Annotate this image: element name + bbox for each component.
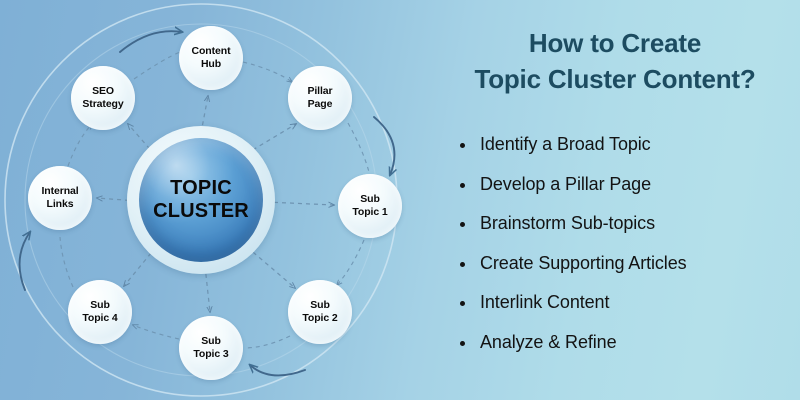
- bullet-icon: [460, 301, 465, 306]
- node-sub-topic-4-line2: Topic 4: [82, 312, 117, 324]
- bullet-icon: [460, 341, 465, 346]
- bullet-icon: [460, 262, 465, 267]
- flow-arrow-left: [20, 232, 30, 290]
- rim-link-pillar-to-sub1: [348, 123, 369, 172]
- node-content-hub-line1: Content: [192, 45, 231, 57]
- step-text: Interlink Content: [480, 292, 609, 312]
- node-sub-topic-4-line1: Sub: [90, 299, 110, 311]
- node-sub-topic-4[interactable]: Sub Topic 4: [68, 280, 132, 344]
- node-internal-links-line1: Internal: [41, 185, 78, 197]
- list-item: Create Supporting Articles: [458, 253, 800, 274]
- page-title-line1: How to Create: [529, 28, 701, 58]
- node-content-hub-label: Content Hub: [192, 45, 231, 71]
- content-panel: How to Create Topic Cluster Content? Ide…: [430, 0, 800, 400]
- node-seo-strategy-line2: Strategy: [82, 98, 123, 110]
- node-sub-topic-3[interactable]: Sub Topic 3: [179, 316, 243, 380]
- node-internal-links-label: Internal Links: [41, 185, 78, 211]
- rim-link-sub2-to-sub3: [244, 336, 290, 348]
- node-sub-topic-2[interactable]: Sub Topic 2: [288, 280, 352, 344]
- bullet-icon: [460, 143, 465, 148]
- node-sub-topic-1-line1: Sub: [360, 193, 380, 205]
- node-pillar-page[interactable]: Pillar Page: [288, 66, 352, 130]
- node-internal-links[interactable]: Internal Links: [28, 166, 92, 230]
- node-seo-strategy-line1: SEO: [92, 85, 114, 97]
- list-item: Analyze & Refine: [458, 332, 800, 353]
- node-pillar-page-line2: Page: [308, 98, 333, 110]
- node-internal-links-line2: Links: [47, 198, 74, 210]
- node-sub-topic-1-label: Sub Topic 1: [352, 193, 387, 219]
- node-sub-topic-1-line2: Topic 1: [352, 206, 387, 218]
- page-title: How to Create Topic Cluster Content?: [430, 26, 800, 98]
- node-sub-topic-2-line1: Sub: [310, 299, 330, 311]
- list-item: Identify a Broad Topic: [458, 134, 800, 155]
- step-text: Analyze & Refine: [480, 332, 616, 352]
- node-sub-topic-3-label: Sub Topic 3: [193, 335, 228, 361]
- list-item: Develop a Pillar Page: [458, 174, 800, 195]
- core-label-line2: CLUSTER: [153, 200, 249, 222]
- step-text: Develop a Pillar Page: [480, 174, 651, 194]
- rim-link-sub1-to-sub2: [337, 240, 364, 285]
- spoke-sub-topic-1: [266, 202, 334, 205]
- node-sub-topic-3-line2: Topic 3: [193, 348, 228, 360]
- topic-cluster-core[interactable]: TOPIC CLUSTER: [139, 138, 263, 262]
- node-pillar-page-line1: Pillar: [307, 85, 332, 97]
- node-content-hub-line2: Hub: [201, 58, 221, 70]
- node-sub-topic-2-label: Sub Topic 2: [302, 299, 337, 325]
- bullet-icon: [460, 183, 465, 188]
- rim-link-sub3-to-sub4: [133, 325, 179, 339]
- list-item: Brainstorm Sub-topics: [458, 213, 800, 234]
- rim-link-seo-to-hub: [134, 52, 180, 79]
- bullet-icon: [460, 222, 465, 227]
- rim-link-hub-to-pillar: [243, 62, 292, 82]
- steps-list: Identify a Broad Topic Develop a Pillar …: [458, 134, 800, 371]
- node-sub-topic-3-line1: Sub: [201, 335, 221, 347]
- flow-arrow-right: [374, 117, 394, 175]
- rim-link-sub4-to-links: [60, 237, 73, 287]
- list-item: Interlink Content: [458, 292, 800, 313]
- topic-cluster-diagram: TOPIC CLUSTER Content Hub Pillar Page Su…: [0, 0, 430, 400]
- node-sub-topic-4-label: Sub Topic 4: [82, 299, 117, 325]
- node-sub-topic-1[interactable]: Sub Topic 1: [338, 174, 402, 238]
- page-title-line2: Topic Cluster Content?: [474, 64, 755, 94]
- spoke-sub-topic-2: [247, 247, 295, 288]
- node-sub-topic-2-line2: Topic 2: [302, 312, 337, 324]
- node-content-hub[interactable]: Content Hub: [179, 26, 243, 90]
- rim-link-links-to-seo: [68, 124, 92, 166]
- step-text: Brainstorm Sub-topics: [480, 213, 655, 233]
- node-pillar-page-label: Pillar Page: [307, 85, 332, 111]
- flow-arrow-top-left: [120, 31, 182, 52]
- core-label-line1: TOPIC: [170, 177, 232, 199]
- infographic-canvas: TOPIC CLUSTER Content Hub Pillar Page Su…: [0, 0, 800, 400]
- core-label: TOPIC CLUSTER: [153, 177, 249, 223]
- node-seo-strategy[interactable]: SEO Strategy: [71, 66, 135, 130]
- step-text: Create Supporting Articles: [480, 253, 687, 273]
- step-text: Identify a Broad Topic: [480, 134, 651, 154]
- node-seo-strategy-label: SEO Strategy: [82, 85, 123, 111]
